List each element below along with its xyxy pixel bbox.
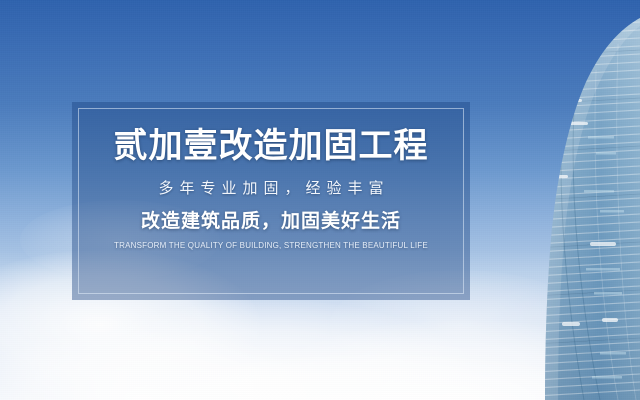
text-panel: 贰加壹改造加固工程 多年专业加固，经验丰富 改造建筑品质，加固美好生活 TRAN…: [72, 102, 470, 300]
tagline-english: TRANSFORM THE QUALITY OF BUILDING, STREN…: [114, 242, 428, 250]
hero-banner: 贰加壹改造加固工程 多年专业加固，经验丰富 改造建筑品质，加固美好生活 TRAN…: [0, 0, 640, 400]
subheadline-text: 多年专业加固，经验丰富: [152, 181, 389, 196]
tagline-chinese: 改造建筑品质，加固美好生活: [141, 212, 401, 231]
headline-title: 贰加壹改造加固工程: [114, 129, 429, 163]
panel-content: 贰加壹改造加固工程 多年专业加固，经验丰富 改造建筑品质，加固美好生活 TRAN…: [72, 102, 470, 300]
